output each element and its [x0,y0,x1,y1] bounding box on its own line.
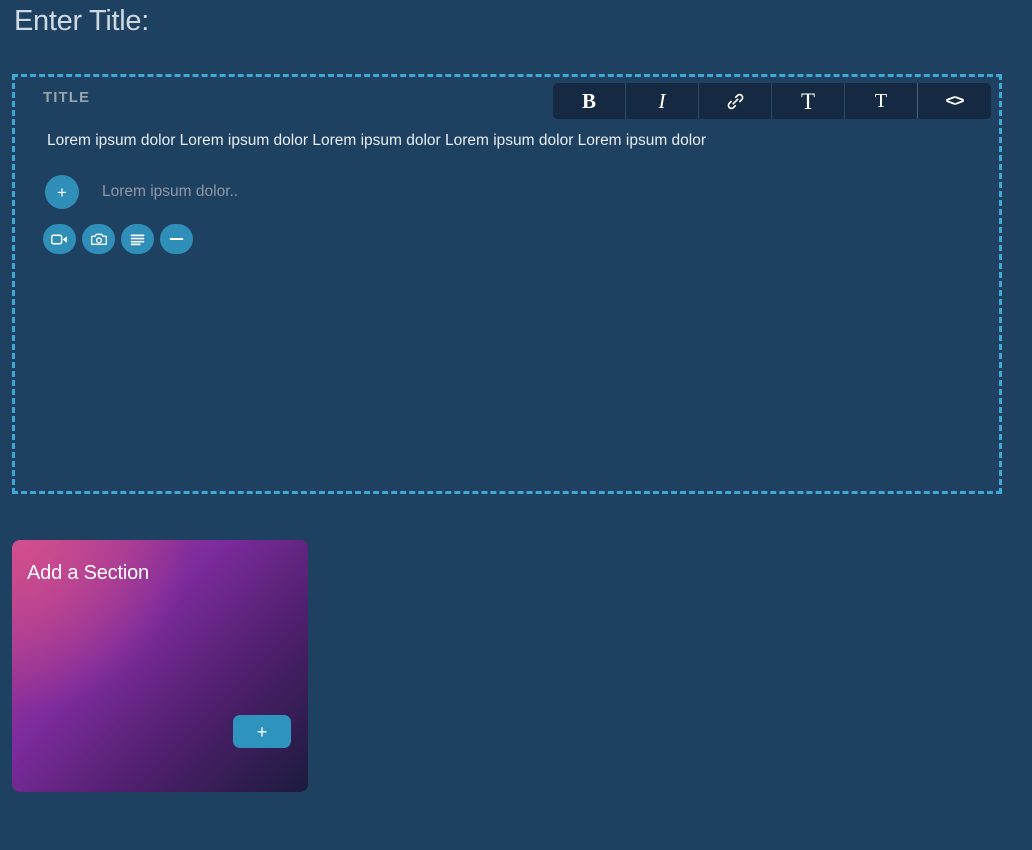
add-section-card[interactable]: Add a Section + [12,540,308,792]
link-button[interactable] [699,83,772,119]
minus-icon [169,236,184,242]
heading-small-icon: T [875,91,887,111]
add-block-row: + Lorem ipsum dolor.. [45,175,238,209]
heading-large-icon: T [801,90,815,113]
format-toolbar: B I T T <> [553,83,991,119]
plus-icon: + [257,723,268,741]
link-icon [725,91,746,112]
add-section-card-title: Add a Section [27,562,149,585]
italic-icon: I [659,91,666,112]
italic-button[interactable]: I [626,83,699,119]
insert-photo-button[interactable] [82,224,115,254]
remove-block-button[interactable] [160,224,193,254]
code-button[interactable]: <> [918,83,991,119]
section-title-label: TITLE [43,89,90,106]
add-block-button[interactable]: + [45,175,79,209]
editor-body-text[interactable]: Lorem ipsum dolor Lorem ipsum dolor Lore… [47,130,706,152]
add-section-button[interactable]: + [233,715,291,748]
camera-icon [91,232,107,246]
insert-text-button[interactable] [121,224,154,254]
editor-dropzone[interactable]: TITLE B I T T <> Lorem [12,74,1002,494]
video-camera-icon [51,233,68,246]
code-icon: <> [946,91,964,111]
heading-small-button[interactable]: T [845,83,918,119]
page-title: Enter Title: [14,2,149,40]
media-button-row [43,224,193,254]
add-block-placeholder[interactable]: Lorem ipsum dolor.. [102,183,238,201]
bold-button[interactable]: B [553,83,626,119]
insert-video-button[interactable] [43,224,76,254]
heading-large-button[interactable]: T [772,83,845,119]
bold-icon: B [582,91,596,112]
plus-icon: + [57,184,67,201]
text-lines-icon [130,233,145,246]
